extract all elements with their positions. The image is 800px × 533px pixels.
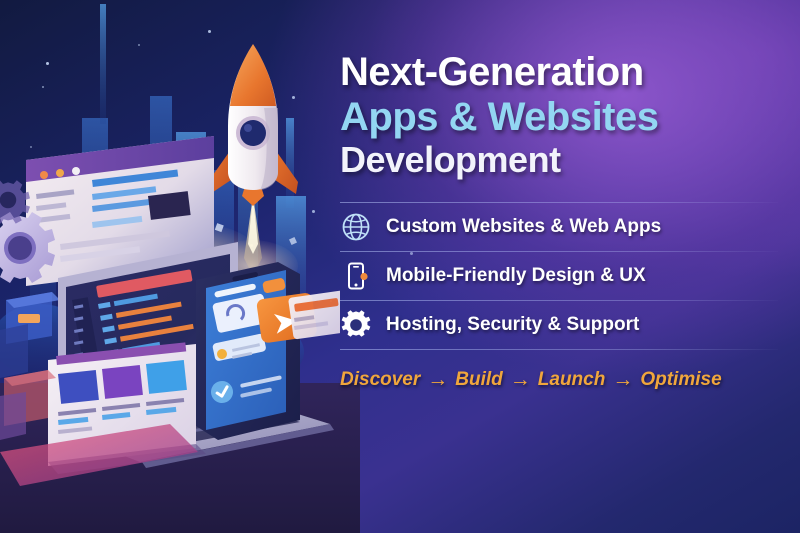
arrow-icon: → — [612, 368, 633, 392]
gear-icon — [340, 309, 372, 341]
smartphone-icon — [340, 260, 372, 292]
feature-label: Custom Websites & Web Apps — [386, 216, 661, 238]
arrow-icon: → — [510, 368, 531, 392]
tagline-step-optimise: Optimise — [640, 369, 721, 391]
tagline-step-build: Build — [455, 369, 503, 391]
notification-card-illustration — [288, 290, 340, 339]
feature-divider — [340, 349, 778, 350]
tagline-step-discover: Discover — [340, 369, 420, 391]
process-tagline: Discover → Build → Launch → Optimise — [340, 368, 778, 392]
feature-label: Hosting, Security & Support — [386, 314, 639, 336]
decorative-box — [0, 392, 26, 440]
rocket-illustration — [208, 44, 298, 206]
headline-line-2: Apps & Websites — [340, 97, 778, 138]
feature-item-mobile-design: Mobile-Friendly Design & UX — [340, 252, 778, 300]
feature-label: Mobile-Friendly Design & UX — [386, 265, 646, 287]
hero-illustration — [0, 0, 340, 533]
headline-line-1: Next-Generation — [340, 52, 778, 93]
feature-list: Custom Websites & Web Apps Mobile-Friend… — [340, 202, 778, 350]
headline-line-3: Development — [340, 142, 778, 179]
promo-banner: Next-Generation Apps & Websites Developm… — [0, 0, 800, 533]
arrow-icon: → — [427, 368, 448, 392]
feature-item-custom-websites: Custom Websites & Web Apps — [340, 203, 778, 251]
smartphone-illustration — [196, 262, 318, 440]
globe-icon — [340, 211, 372, 243]
tagline-step-launch: Launch — [538, 369, 606, 391]
content-column: Next-Generation Apps & Websites Developm… — [336, 0, 800, 533]
feature-item-hosting-security: Hosting, Security & Support — [340, 301, 778, 349]
